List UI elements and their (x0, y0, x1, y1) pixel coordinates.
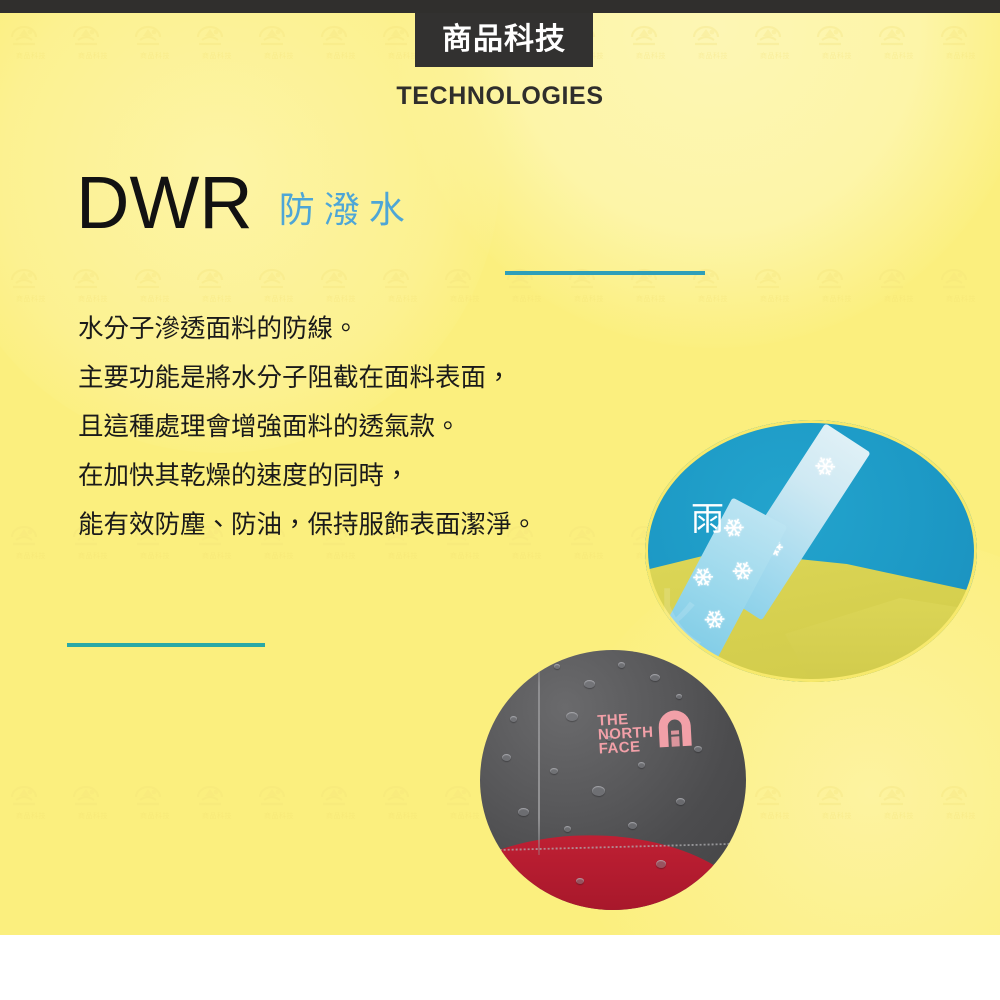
watermark-logo-icon: 商品科技 (310, 773, 372, 813)
description-line: 且這種處理會增強面料的透氣款。 (78, 403, 678, 452)
section-badge: 商品科技 (415, 13, 593, 67)
water-droplet (566, 712, 578, 721)
watermark-logo-icon: 商品科技 (744, 13, 806, 53)
description-block: 水分子滲透面料的防線。 主要功能是將水分子阻截在面料表面， 且這種處理會增強面料… (78, 305, 678, 550)
watermark-logo-icon: 商品科技 (868, 256, 930, 296)
technology-title-english: DWR (76, 166, 253, 240)
water-droplet (676, 694, 682, 699)
watermark-logo-icon: 商品科技 (496, 256, 558, 296)
top-divider-bar (0, 0, 1000, 13)
watermark-logo-icon: 商品科技 (930, 13, 992, 53)
watermark-logo-icon: 商品科技 (0, 256, 62, 296)
watermark-logo-icon: 商品科技 (372, 256, 434, 296)
watermark-logo-icon: 商品科技 (124, 773, 186, 813)
watermark-logo-icon: 商品科技 (124, 13, 186, 53)
water-droplet (592, 786, 605, 796)
section-badge-label: 商品科技 (442, 25, 566, 55)
the-north-face-logo: THE NORTH FACE (597, 705, 697, 759)
watermark-logo-icon: 商品科技 (930, 256, 992, 296)
jacket-water-repellency-photo: THE NORTH FACE (480, 650, 746, 910)
watermark-logo-icon: 商品科技 (372, 773, 434, 813)
watermark-logo-icon: 商品科技 (992, 13, 1000, 53)
watermark-logo-icon: 商品科技 (0, 773, 62, 813)
rain-label: 雨 (691, 502, 724, 535)
jacket-seam-line (538, 650, 540, 855)
bottom-white-strip (0, 935, 1000, 1000)
water-droplet (564, 826, 571, 832)
section-subtitle: TECHNOLOGIES (0, 82, 1000, 111)
watermark-logo-icon: 商品科技 (0, 513, 62, 553)
brand-line-3: FACE (598, 739, 654, 756)
watermark-logo-icon: 商品科技 (806, 256, 868, 296)
water-droplet (676, 798, 685, 805)
water-droplet (518, 808, 529, 816)
watermark-logo-icon: 商品科技 (248, 13, 310, 53)
watermark-logo-icon: 商品科技 (620, 256, 682, 296)
watermark-logo-icon: 商品科技 (806, 773, 868, 813)
water-droplet (650, 674, 660, 681)
water-droplet (520, 672, 529, 679)
watermark-row: 商品科技商品科技商品科技商品科技商品科技商品科技商品科技商品科技商品科技商品科技… (0, 256, 1000, 296)
watermark-logo-icon: 商品科技 (310, 13, 372, 53)
watermark-logo-icon: 商品科技 (992, 513, 1000, 553)
water-droplet (656, 860, 666, 868)
promo-graphic: 商品科技商品科技商品科技商品科技商品科技商品科技商品科技商品科技商品科技商品科技… (0, 0, 1000, 1000)
watermark-logo-icon: 商品科技 (124, 256, 186, 296)
watermark-logo-icon: 商品科技 (868, 773, 930, 813)
watermark-logo-icon: 商品科技 (620, 13, 682, 53)
technology-title: DWR 防潑水 (76, 166, 414, 240)
half-dome-icon (654, 705, 697, 756)
water-droplet (584, 680, 595, 688)
water-droplet (550, 768, 558, 774)
divider-rule-top (505, 271, 705, 275)
description-line: 能有效防塵、防油，保持服飾表面潔淨。 (78, 501, 678, 550)
water-droplet (502, 754, 511, 761)
watermark-logo-icon: 商品科技 (186, 256, 248, 296)
watermark-logo-icon: 商品科技 (992, 256, 1000, 296)
snowflake-icon: ❄ (726, 555, 759, 589)
water-droplet (554, 664, 560, 669)
water-droplet (638, 762, 645, 768)
watermark-logo-icon: 商品科技 (186, 773, 248, 813)
watermark-logo-icon: 商品科技 (682, 256, 744, 296)
watermark-logo-icon: 商品科技 (434, 256, 496, 296)
description-line: 水分子滲透面料的防線。 (78, 305, 678, 354)
watermark-logo-icon: 商品科技 (310, 256, 372, 296)
water-droplet (510, 716, 517, 722)
watermark-logo-icon: 商品科技 (62, 13, 124, 53)
watermark-logo-icon: 商品科技 (558, 256, 620, 296)
watermark-logo-icon: 商品科技 (62, 773, 124, 813)
water-droplet (576, 878, 584, 884)
watermark-logo-icon: 商品科技 (62, 256, 124, 296)
divider-rule-bottom (67, 643, 265, 647)
rain-fabric-photo: 水 ❄ ❄ ❄ ❄ ❄ ❄ 雨 (645, 420, 977, 682)
snowflake-icon: ❄ (808, 450, 842, 485)
watermark-logo-icon: 商品科技 (992, 773, 1000, 813)
watermark-logo-icon: 商品科技 (744, 773, 806, 813)
description-line: 在加快其乾燥的速度的同時， (78, 452, 678, 501)
watermark-logo-icon: 商品科技 (248, 256, 310, 296)
description-line: 主要功能是將水分子阻截在面料表面， (78, 354, 678, 403)
watermark-logo-icon: 商品科技 (744, 256, 806, 296)
watermark-logo-icon: 商品科技 (682, 13, 744, 53)
the-north-face-wordmark: THE NORTH FACE (597, 711, 654, 756)
watermark-logo-icon: 商品科技 (0, 13, 62, 53)
watermark-logo-icon: 商品科技 (930, 773, 992, 813)
water-droplet (618, 662, 625, 668)
watermark-logo-icon: 商品科技 (806, 13, 868, 53)
watermark-logo-icon: 商品科技 (248, 773, 310, 813)
watermark-logo-icon: 商品科技 (868, 13, 930, 53)
technology-title-chinese: 防潑水 (279, 193, 414, 229)
water-droplet (628, 822, 637, 829)
watermark-logo-icon: 商品科技 (186, 13, 248, 53)
